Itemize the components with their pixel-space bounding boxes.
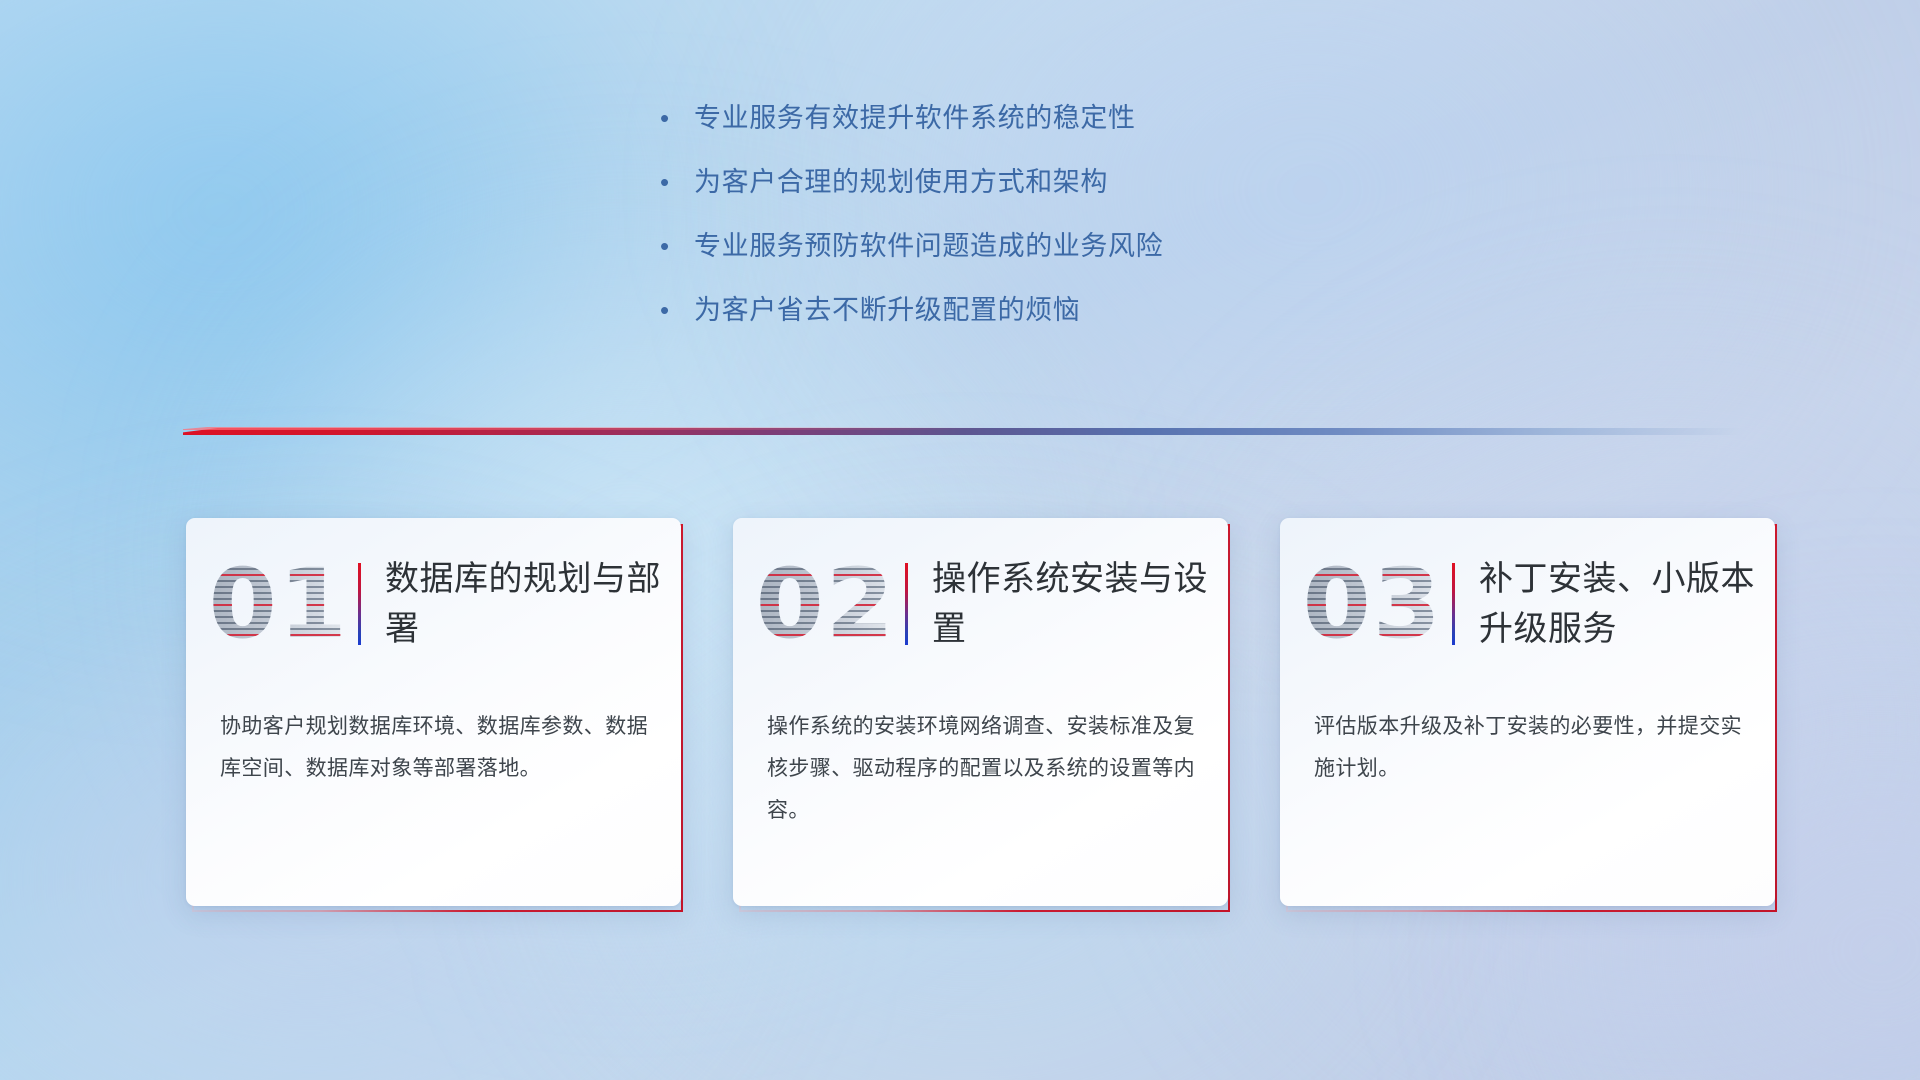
bullet-text-4: 为客户省去不断升级配置的烦恼 [694,290,1080,330]
bullet-dot-icon: • [660,98,694,138]
card-number-watermark: 01 01 [204,544,354,664]
bullet-dot-icon: • [660,226,694,266]
list-item: • 为客户省去不断升级配置的烦恼 [660,290,1420,354]
bullet-text-3: 专业服务预防软件问题造成的业务风险 [694,226,1163,266]
service-card-02[interactable]: 02 02 操作系统安装与设置 操作系统的安装环境网络调查、安装标准及复核步骤、… [733,518,1228,908]
card-header: 03 03 补丁安装、小版本升级服务 [1280,540,1775,668]
bullet-dot-icon: • [660,162,694,202]
card-title: 补丁安装、小版本升级服务 [1479,554,1775,654]
list-item: • 为客户合理的规划使用方式和架构 [660,162,1420,226]
card-number-text: 01 [209,544,349,664]
card-number-watermark: 02 02 [751,544,901,664]
bullet-text-1: 专业服务有效提升软件系统的稳定性 [694,98,1136,138]
section-divider [183,424,1743,440]
bullet-dot-icon: • [660,290,694,330]
card-surface: 03 03 补丁安装、小版本升级服务 评估版本升级及补丁安装的必要性，并提交实施… [1280,518,1775,906]
card-number-text: 03 [1303,544,1443,664]
service-card-group: 01 01 数据库的规划与部署 协助客户规划数据库环境、数据库参数、数据库空间、… [0,518,1920,938]
card-title-rule [1452,563,1455,645]
card-header: 01 01 数据库的规划与部署 [186,540,681,668]
card-surface: 01 01 数据库的规划与部署 协助客户规划数据库环境、数据库参数、数据库空间、… [186,518,681,906]
benefits-bullet-list: • 专业服务有效提升软件系统的稳定性 • 为客户合理的规划使用方式和架构 • 专… [660,98,1420,354]
card-title-rule [905,563,908,645]
service-card-03[interactable]: 03 03 补丁安装、小版本升级服务 评估版本升级及补丁安装的必要性，并提交实施… [1280,518,1775,908]
card-description: 评估版本升级及补丁安装的必要性，并提交实施计划。 [1314,706,1744,790]
list-item: • 专业服务预防软件问题造成的业务风险 [660,226,1420,290]
card-description: 协助客户规划数据库环境、数据库参数、数据库空间、数据库对象等部署落地。 [220,706,650,790]
card-title: 数据库的规划与部署 [385,554,681,654]
card-header: 02 02 操作系统安装与设置 [733,540,1228,668]
bullet-text-2: 为客户合理的规划使用方式和架构 [694,162,1108,202]
list-item: • 专业服务有效提升软件系统的稳定性 [660,98,1420,162]
divider-highlight [183,427,994,430]
card-number-watermark: 03 03 [1298,544,1448,664]
service-card-01[interactable]: 01 01 数据库的规划与部署 协助客户规划数据库环境、数据库参数、数据库空间、… [186,518,681,908]
card-title-rule [358,563,361,645]
card-number-text: 02 [756,544,896,664]
card-surface: 02 02 操作系统安装与设置 操作系统的安装环境网络调查、安装标准及复核步骤、… [733,518,1228,906]
slide-canvas: • 专业服务有效提升软件系统的稳定性 • 为客户合理的规划使用方式和架构 • 专… [0,0,1920,1080]
card-description: 操作系统的安装环境网络调查、安装标准及复核步骤、驱动程序的配置以及系统的设置等内… [767,706,1197,832]
card-title: 操作系统安装与设置 [932,554,1228,654]
